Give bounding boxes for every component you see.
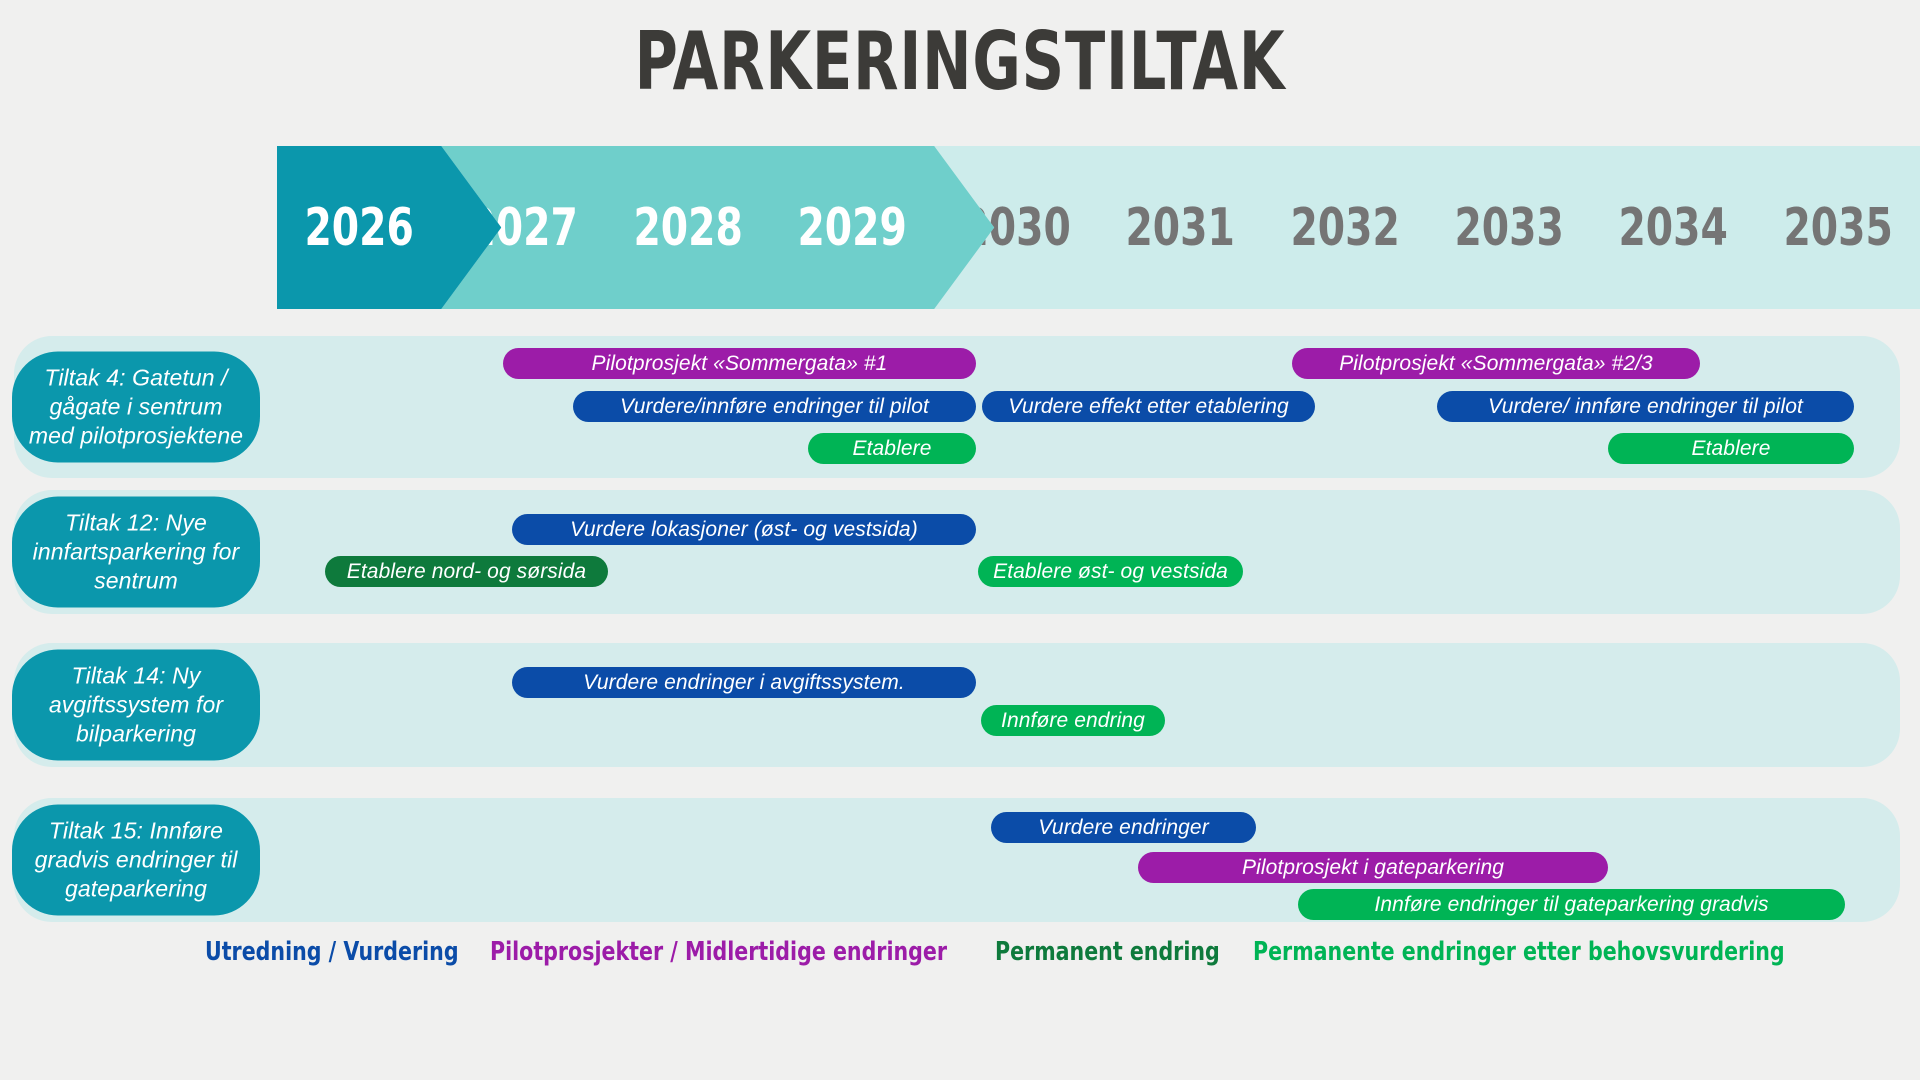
timeline-bar-t15-b2[interactable]: Pilotprosjekt i gateparkering <box>1138 852 1608 883</box>
row-label-tiltak-12[interactable]: Tiltak 12: Nyeinnfartsparkering forsentr… <box>12 497 260 608</box>
legend-permanent: Permanent endring <box>995 932 1220 972</box>
year-label-2028: 2028 <box>619 202 757 254</box>
year-label-2032: 2032 <box>1276 202 1414 254</box>
timeline-bar-t4-b1[interactable]: Pilotprosjekt «Sommergata» #1 <box>503 348 976 379</box>
year-label-2026: 2026 <box>290 202 428 254</box>
timeline-bar-t15-b3[interactable]: Innføre endringer til gateparkering grad… <box>1298 889 1845 920</box>
timeline-bar-t12-b2[interactable]: Etablere nord- og sørsida <box>325 556 608 587</box>
year-label-2035: 2035 <box>1769 202 1907 254</box>
timeline-bar-t4-b7[interactable]: Etablere <box>1608 433 1854 464</box>
timeline-year-band: 2026202720282029203020312032203320342035 <box>277 146 1920 309</box>
row-label-tiltak-4[interactable]: Tiltak 4: Gatetun /gågate i sentrummed p… <box>12 352 260 463</box>
row-label-text: Tiltak 12: Nyeinnfartsparkering forsentr… <box>33 509 240 596</box>
row-label-tiltak-14[interactable]: Tiltak 14: Nyavgiftssystem forbilparkeri… <box>12 650 260 761</box>
legend-utredning: Utredning / Vurdering <box>205 932 459 972</box>
year-label-2029: 2029 <box>783 202 921 254</box>
timeline-bar-t4-b3[interactable]: Vurdere/innføre endringer til pilot <box>573 391 976 422</box>
timeline-segment-2030-2035: 203020312032203320342035 <box>934 146 1920 309</box>
timeline-bar-t4-b6[interactable]: Vurdere/ innføre endringer til pilot <box>1437 391 1854 422</box>
timeline-bar-t12-b3[interactable]: Etablere øst- og vestsida <box>978 556 1243 587</box>
row-background-tiltak-12 <box>14 490 1900 614</box>
year-label-2031: 2031 <box>1112 202 1250 254</box>
row-label-text: Tiltak 15: Innføregradvis endringer tilg… <box>35 817 238 904</box>
timeline-bar-t4-b4[interactable]: Vurdere effekt etter etablering <box>982 391 1315 422</box>
timeline-bar-t4-b5[interactable]: Etablere <box>808 433 976 464</box>
row-label-text: Tiltak 14: Nyavgiftssystem forbilparkeri… <box>49 662 223 749</box>
timeline-bar-t14-b2[interactable]: Innføre endring <box>981 705 1165 736</box>
timeline-bar-t15-b1[interactable]: Vurdere endringer <box>991 812 1256 843</box>
year-label-2033: 2033 <box>1440 202 1578 254</box>
timeline-segment-2027-2029: 202720282029 <box>441 146 994 309</box>
row-background-tiltak-14 <box>14 643 1900 767</box>
timeline-bar-t14-b1[interactable]: Vurdere endringer i avgiftssystem. <box>512 667 976 698</box>
legend-pilot: Pilotprosjekter / Midlertidige endringer <box>490 932 947 972</box>
page-title: PARKERINGSTILTAK <box>173 14 1747 110</box>
measure-row-tiltak-12: Tiltak 12: Nyeinnfartsparkering forsentr… <box>0 490 1920 614</box>
year-label-2034: 2034 <box>1605 202 1743 254</box>
timeline-infographic: PARKERINGSTILTAK 20262027202820292030203… <box>0 0 1920 1080</box>
measure-row-tiltak-4: Tiltak 4: Gatetun /gågate i sentrummed p… <box>0 336 1920 478</box>
measure-row-tiltak-15: Tiltak 15: Innføregradvis endringer tilg… <box>0 798 1920 922</box>
timeline-bar-t4-b2[interactable]: Pilotprosjekt «Sommergata» #2/3 <box>1292 348 1700 379</box>
legend-permanent-behov: Permanente endringer etter behovsvurderi… <box>1253 932 1785 972</box>
row-label-text: Tiltak 4: Gatetun /gågate i sentrummed p… <box>29 364 243 451</box>
row-label-tiltak-15[interactable]: Tiltak 15: Innføregradvis endringer tilg… <box>12 805 260 916</box>
timeline-bar-t12-b1[interactable]: Vurdere lokasjoner (øst- og vestsida) <box>512 514 976 545</box>
measure-row-tiltak-14: Tiltak 14: Nyavgiftssystem forbilparkeri… <box>0 643 1920 767</box>
